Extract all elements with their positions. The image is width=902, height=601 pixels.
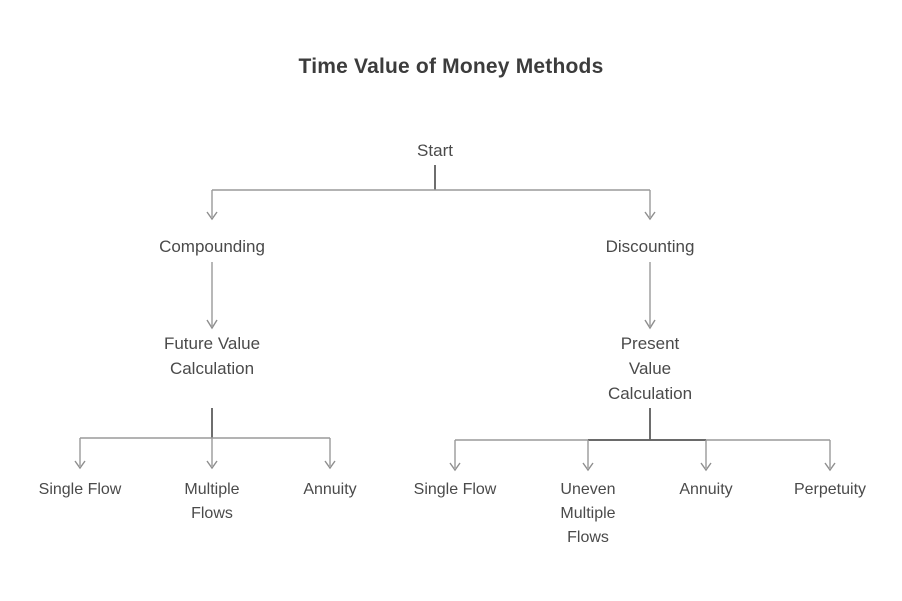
arrowhead-fv	[207, 320, 217, 328]
node-compounding[interactable]: Compounding	[159, 234, 265, 259]
node-start[interactable]: Start	[417, 138, 453, 163]
leaf-compounding-annuity[interactable]: Annuity	[303, 478, 356, 502]
leaf-discounting-perpetuity[interactable]: Perpetuity	[794, 478, 866, 502]
leaf-compounding-multiple-flows[interactable]: Multiple Flows	[184, 478, 239, 526]
arrowhead-left-leaf-2	[207, 461, 217, 468]
leaf-discounting-annuity[interactable]: Annuity	[679, 478, 732, 502]
node-present-value-calculation[interactable]: Present Value Calculation	[608, 331, 692, 406]
arrowhead-discounting	[645, 212, 655, 219]
node-future-value-calculation[interactable]: Future Value Calculation	[164, 331, 260, 381]
diagram-canvas: Time Value of Money Methods	[0, 0, 902, 601]
arrowhead-right-leaf-1	[450, 463, 460, 470]
arrowhead-pv	[645, 320, 655, 328]
arrowhead-left-leaf-1	[75, 461, 85, 468]
connector-lines	[0, 0, 902, 601]
arrowhead-left-leaf-3	[325, 461, 335, 468]
arrowhead-right-leaf-2	[583, 463, 593, 470]
arrowhead-right-leaf-3	[701, 463, 711, 470]
node-discounting[interactable]: Discounting	[606, 234, 695, 259]
page-title: Time Value of Money Methods	[0, 55, 902, 79]
leaf-discounting-single-flow[interactable]: Single Flow	[414, 478, 497, 502]
leaf-discounting-uneven-multiple-flows[interactable]: Uneven Multiple Flows	[560, 478, 615, 550]
leaf-compounding-single-flow[interactable]: Single Flow	[39, 478, 122, 502]
arrowhead-compounding	[207, 212, 217, 219]
arrowhead-right-leaf-4	[825, 463, 835, 470]
